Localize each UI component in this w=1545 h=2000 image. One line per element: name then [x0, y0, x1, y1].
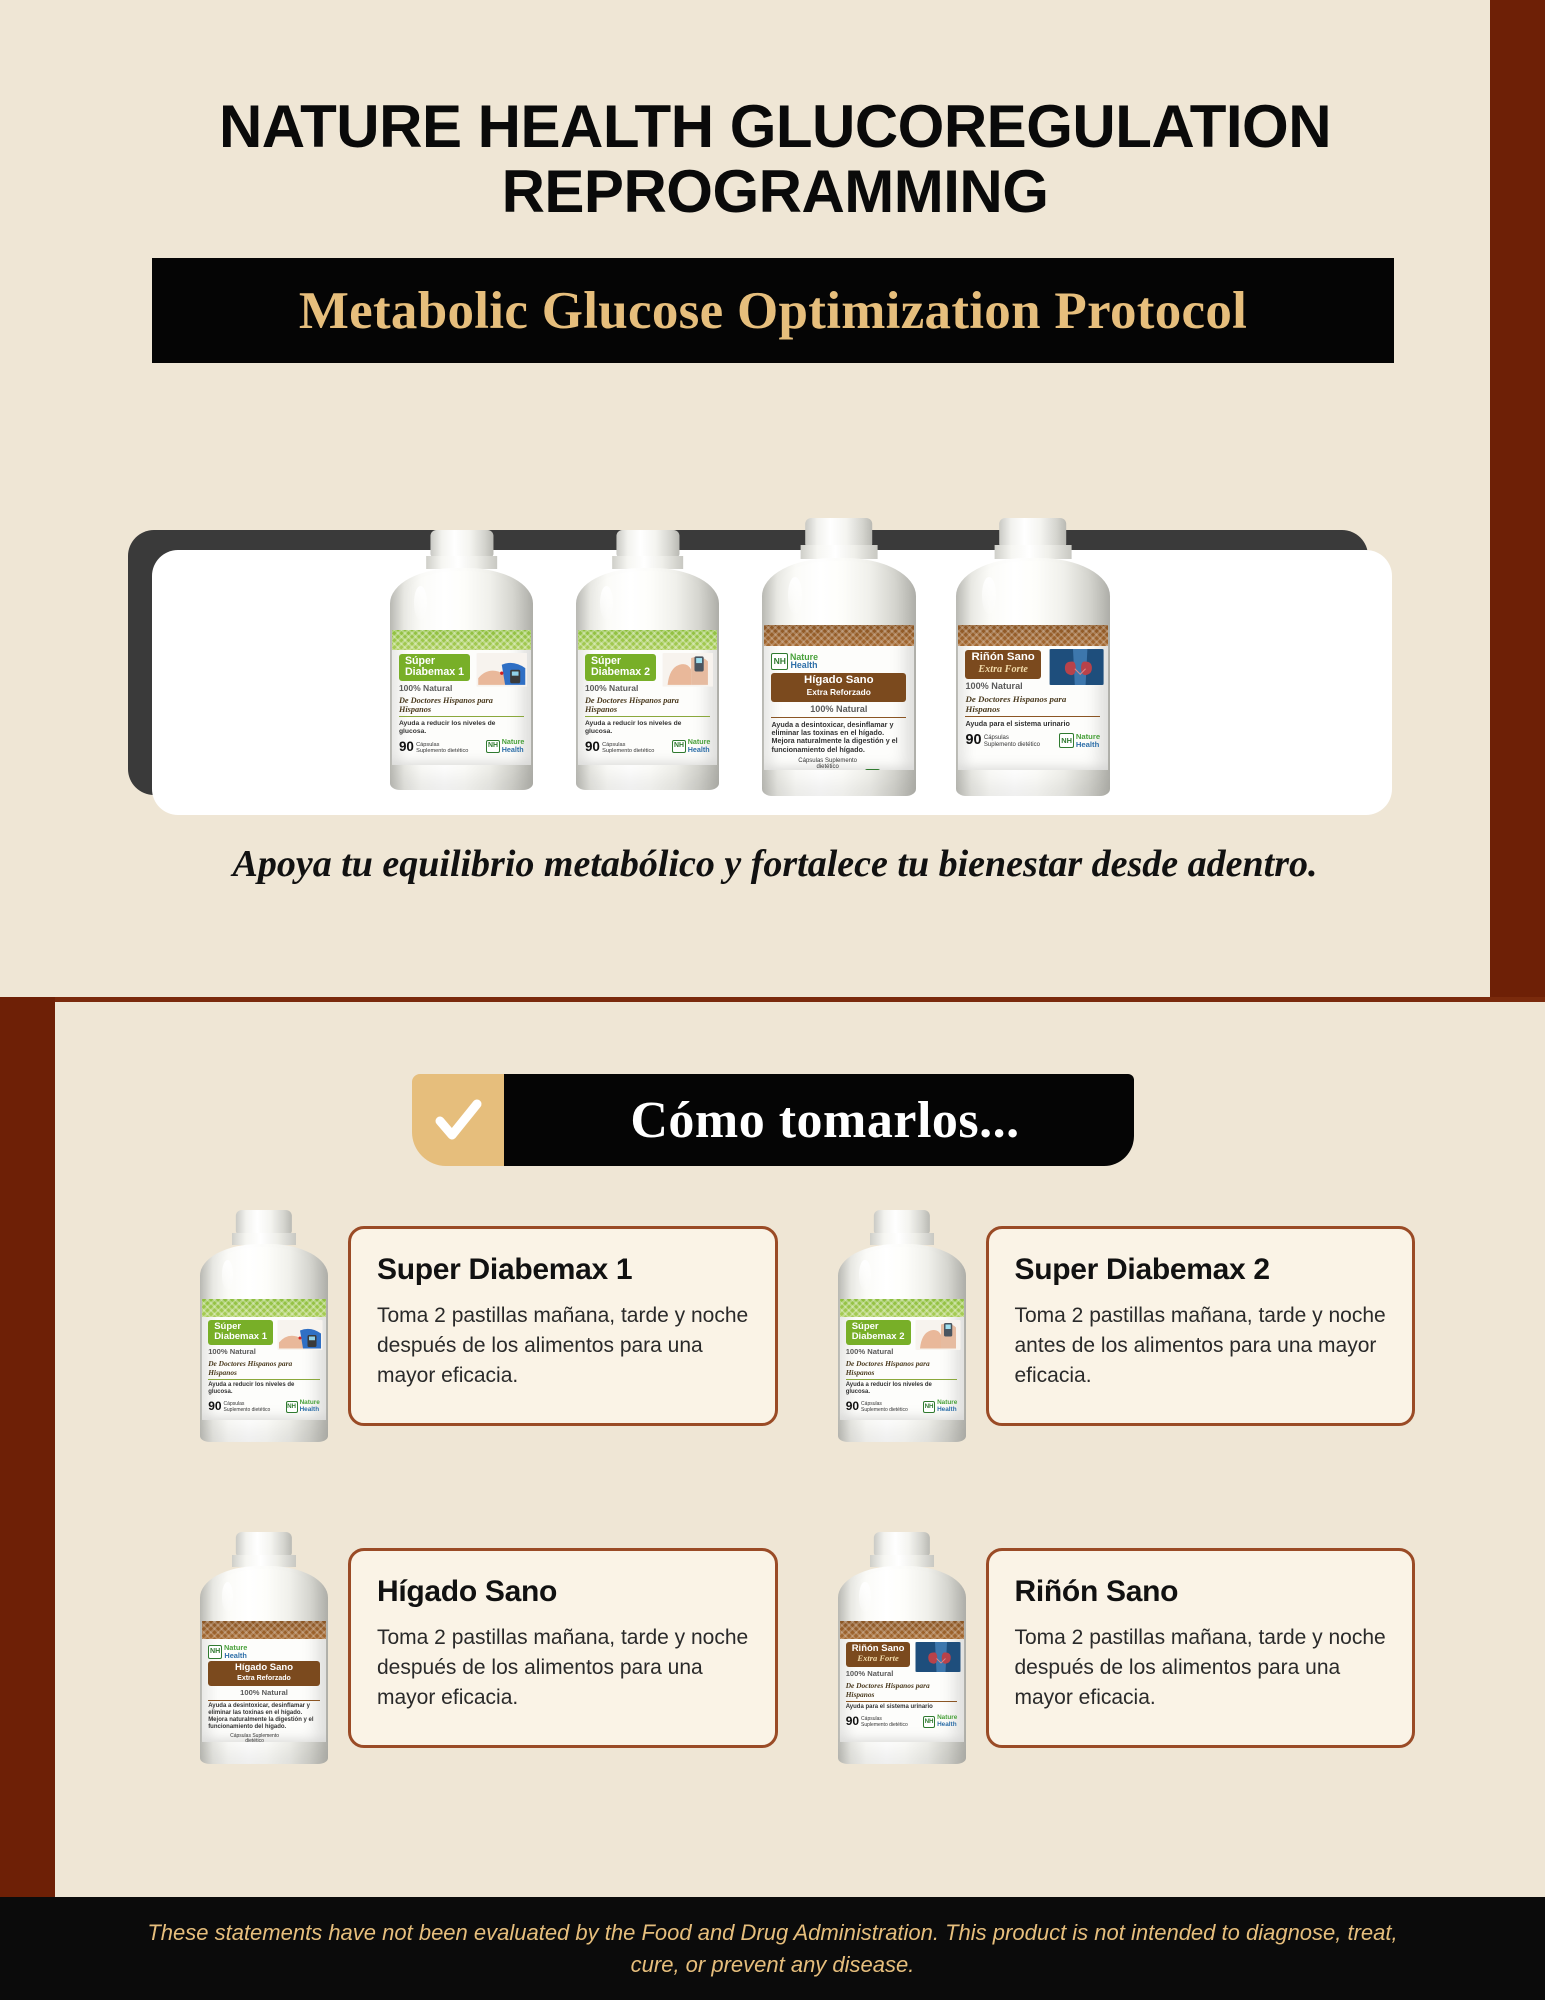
- card-instruction: Toma 2 pastillas mañana, tarde y noche a…: [1015, 1301, 1387, 1390]
- bottle-cap: [236, 1210, 292, 1234]
- hand-glucometer-icon: [915, 1320, 961, 1350]
- bottle-name-line1: Hígado Sano: [235, 1662, 293, 1673]
- label-capsule-text: Cápsulas Suplemento dietéticoCapsules Di…: [224, 1734, 286, 1742]
- label-top-band: [202, 1621, 326, 1638]
- subtitle-banner: Metabolic Glucose Optimization Protocol: [152, 258, 1394, 363]
- card-bottle-thumb: NH NatureHealth Hígado Sano Extra Reforz…: [200, 1532, 328, 1764]
- label-capsule-text: CápsulasSuplemento dietético: [861, 1402, 908, 1413]
- page-title: NATURE HEALTH GLUCOREGULATION REPROGRAMM…: [80, 95, 1470, 225]
- nature-health-logo-icon: NH NatureHealth: [923, 1400, 957, 1413]
- label-footer: 90 CápsulasSuplemento dietético NH Natur…: [208, 1399, 320, 1413]
- hero-photo-card: [152, 550, 1392, 815]
- card-title: Riñón Sano: [1015, 1575, 1387, 1609]
- checkmark-icon: [412, 1074, 504, 1166]
- label-description: Ayuda para el sistema urinario: [846, 1704, 958, 1711]
- bottle-highlight: [222, 1260, 234, 1290]
- instruction-card[interactable]: Hígado Sano Toma 2 pastillas mañana, tar…: [348, 1548, 778, 1748]
- label-description: Ayuda a reducir los niveles de glucosa.: [846, 1382, 958, 1396]
- card-row: NH NatureHealth Hígado Sano Extra Reforz…: [200, 1532, 1415, 1764]
- label-top-band: [840, 1299, 964, 1316]
- label-top-band: [840, 1621, 964, 1638]
- instruction-card[interactable]: Super Diabemax 2 Toma 2 pastillas mañana…: [986, 1226, 1416, 1426]
- label-script-line: De Doctores Hispanos para Hispanos: [846, 1681, 958, 1699]
- kidneys-anatomy-icon: [915, 1642, 961, 1672]
- bottle-label: NH NatureHealth Hígado Sano Extra Reforz…: [202, 1621, 326, 1742]
- label-script-line: De Doctores Hispanos para Hispanos: [846, 1359, 958, 1377]
- glucometer-finger-prick-icon: [277, 1320, 323, 1350]
- decorative-bar-left: [0, 997, 55, 1897]
- label-capsule-count: 90: [846, 1399, 859, 1413]
- howto-banner: Cómo tomarlos...: [484, 1074, 1134, 1166]
- hero-photo-frame: [128, 530, 1398, 815]
- bottle-body: Riñón Sano Extra Forte 100% Natural De D…: [838, 1566, 966, 1764]
- label-footer: 90 CápsulasSuplemento dietético NH Natur…: [846, 1714, 958, 1728]
- bottle-cap: [873, 1532, 929, 1556]
- card-instruction: Toma 2 pastillas mañana, tarde y noche d…: [377, 1301, 749, 1390]
- bottle-highlight: [859, 1582, 871, 1612]
- subtitle-text: Metabolic Glucose Optimization Protocol: [299, 281, 1247, 341]
- label-capsule-count: 90: [846, 1714, 859, 1728]
- label-footer: 90 CápsulasSuplemento dietético NH Natur…: [846, 1399, 958, 1413]
- product-instruction-item[interactable]: Súper Diabemax 2 100% Natural De Doctore…: [838, 1210, 1416, 1442]
- nature-health-logo-icon: NH NatureHealth: [286, 1400, 320, 1413]
- bottle-body: NH NatureHealth Hígado Sano Extra Reforz…: [200, 1566, 328, 1764]
- infographic-page: NATURE HEALTH GLUCOREGULATION REPROGRAMM…: [0, 0, 1545, 2000]
- bottle-label: Súper Diabemax 1 100% Natural De Doctore…: [202, 1299, 326, 1420]
- card-title: Super Diabemax 2: [1015, 1253, 1387, 1287]
- bottle-cap: [236, 1532, 292, 1556]
- howto-product-grid: Súper Diabemax 1 100% Natural De Doctore…: [200, 1210, 1415, 1854]
- label-footer: 90 Cápsulas Suplemento dietéticoCapsules…: [208, 1734, 320, 1742]
- bottle-highlight: [859, 1260, 871, 1290]
- howto-heading: Cómo tomarlos...: [598, 1091, 1019, 1150]
- bottle-name-line2: Extra Reforzado: [237, 1675, 291, 1682]
- product-instruction-item[interactable]: Riñón Sano Extra Forte 100% Natural De D…: [838, 1532, 1416, 1764]
- card-instruction: Toma 2 pastillas mañana, tarde y noche d…: [1015, 1623, 1387, 1712]
- card-bottle-thumb: Riñón Sano Extra Forte 100% Natural De D…: [838, 1532, 966, 1764]
- bottle-body: Súper Diabemax 1 100% Natural De Doctore…: [200, 1244, 328, 1442]
- label-capsule-count: 90: [208, 1399, 221, 1413]
- card-instruction: Toma 2 pastillas mañana, tarde y noche d…: [377, 1623, 749, 1712]
- label-natural-claim: 100% Natural: [208, 1688, 320, 1697]
- label-script-line: De Doctores Hispanos para Hispanos: [208, 1359, 320, 1377]
- nature-health-logo-icon: NH NatureHealth: [923, 1715, 957, 1728]
- product-instruction-item[interactable]: NH NatureHealth Hígado Sano Extra Reforz…: [200, 1532, 778, 1764]
- card-row: Súper Diabemax 1 100% Natural De Doctore…: [200, 1210, 1415, 1442]
- bottle-label: Súper Diabemax 2 100% Natural De Doctore…: [840, 1299, 964, 1420]
- label-top-band: [202, 1299, 326, 1316]
- nature-health-logo-icon: NH NatureHealth: [208, 1644, 320, 1659]
- product-bottle: Riñón Sano Extra Forte 100% Natural De D…: [838, 1532, 966, 1764]
- bottle-name-line2: Diabemax 1: [214, 1331, 267, 1342]
- product-bottle: NH NatureHealth Hígado Sano Extra Reforz…: [200, 1532, 328, 1764]
- product-instruction-item[interactable]: Súper Diabemax 1 100% Natural De Doctore…: [200, 1210, 778, 1442]
- instruction-card[interactable]: Riñón Sano Toma 2 pastillas mañana, tard…: [986, 1548, 1416, 1748]
- product-bottle: Súper Diabemax 1 100% Natural De Doctore…: [200, 1210, 328, 1442]
- footer-disclaimer-bar: These statements have not been evaluated…: [0, 1897, 1545, 2000]
- card-bottle-thumb: Súper Diabemax 1 100% Natural De Doctore…: [200, 1210, 328, 1442]
- label-capsule-text: CápsulasSuplemento dietético: [224, 1402, 271, 1413]
- instruction-card[interactable]: Super Diabemax 1 Toma 2 pastillas mañana…: [348, 1226, 778, 1426]
- section-divider-line: [55, 997, 1545, 1002]
- card-title: Super Diabemax 1: [377, 1253, 749, 1287]
- hero-tagline: Apoya tu equilibrio metabólico y fortale…: [80, 842, 1470, 886]
- label-capsule-text: CápsulasSuplemento dietético: [861, 1717, 908, 1728]
- label-description: Ayuda a desintoxicar, desinflamar y elim…: [208, 1703, 320, 1731]
- card-title: Hígado Sano: [377, 1575, 749, 1609]
- product-bottle: Súper Diabemax 2 100% Natural De Doctore…: [838, 1210, 966, 1442]
- bottle-body: Súper Diabemax 2 100% Natural De Doctore…: [838, 1244, 966, 1442]
- card-bottle-thumb: Súper Diabemax 2 100% Natural De Doctore…: [838, 1210, 966, 1442]
- bottle-cap: [873, 1210, 929, 1234]
- footer-disclaimer-text: These statements have not been evaluated…: [123, 1917, 1423, 1981]
- bottle-highlight: [222, 1582, 234, 1612]
- bottle-label: Riñón Sano Extra Forte 100% Natural De D…: [840, 1621, 964, 1742]
- bottle-name-line2: Extra Forte: [857, 1653, 898, 1663]
- decorative-bar-right: [1490, 0, 1545, 997]
- label-description: Ayuda a reducir los niveles de glucosa.: [208, 1382, 320, 1396]
- bottle-name-line2: Diabemax 2: [852, 1331, 905, 1342]
